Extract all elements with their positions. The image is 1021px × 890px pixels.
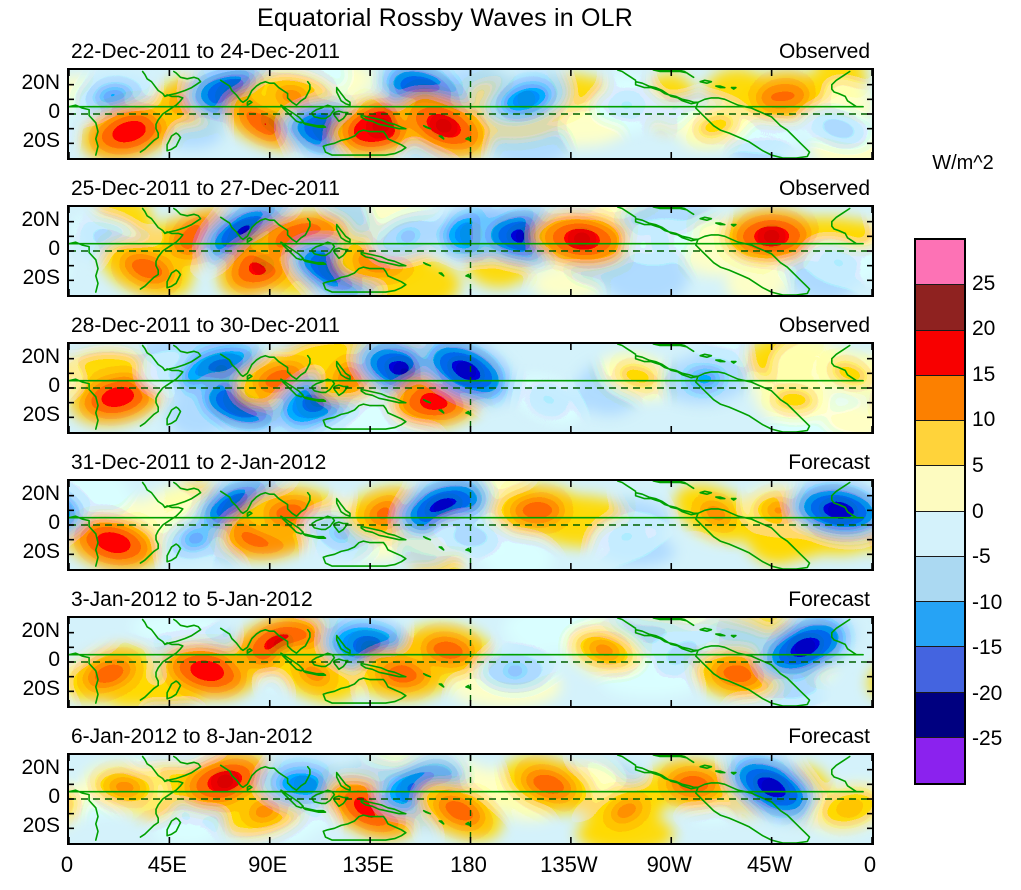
panel-date-range: 28-Dec-2011 to 30-Dec-2011	[71, 314, 340, 338]
figure-root: Equatorial Rossby Waves in OLR 22-Dec-20…	[0, 0, 1021, 890]
colorbar-tick-label: 20	[972, 317, 995, 341]
y-tick-label: 20N	[21, 619, 60, 643]
panel-date-range: 25-Dec-2011 to 27-Dec-2011	[71, 177, 340, 201]
y-tick-label: 20S	[23, 814, 60, 838]
y-tick-label: 20N	[21, 208, 60, 232]
colorbar-tick-labels: 2520151050-5-10-15-20-25	[972, 238, 1021, 785]
x-tick-label: 45E	[148, 852, 187, 878]
panel-header: 6-Jan-2012 to 8-Jan-2012Forecast	[69, 725, 872, 749]
panel-kind-label: Forecast	[788, 451, 870, 475]
panel-header: 3-Jan-2012 to 5-Jan-2012Forecast	[69, 588, 872, 612]
x-tick-label: 90W	[647, 852, 692, 878]
x-axis: 045E90E135E180135W90W45W0	[67, 852, 870, 882]
y-tick-label: 0	[48, 237, 60, 261]
panel-plot-area[interactable]	[67, 205, 874, 297]
colorbar-band	[916, 466, 964, 511]
colorbar-tick-label: -15	[972, 636, 1002, 660]
colorbar-band	[916, 240, 964, 285]
panel-plot-area[interactable]	[67, 68, 874, 160]
panel-date-range: 22-Dec-2011 to 24-Dec-2011	[71, 40, 340, 64]
colorbar-band	[916, 331, 964, 376]
y-tick-label: 20S	[23, 403, 60, 427]
x-tick-label: 0	[61, 852, 73, 878]
colorbar-tick-label: 5	[972, 454, 984, 478]
panel-kind-label: Forecast	[788, 588, 870, 612]
panel-plot-area[interactable]	[67, 616, 874, 708]
colorbar-band	[916, 602, 964, 647]
y-tick-label: 0	[48, 785, 60, 809]
colorbar-band	[916, 512, 964, 557]
colorbar-tick-label: -20	[972, 682, 1002, 706]
x-tick-label: 90E	[248, 852, 287, 878]
y-tick-label: 20N	[21, 756, 60, 780]
colorbar-tick-label: -25	[972, 727, 1002, 751]
panel-kind-label: Forecast	[788, 725, 870, 749]
panel-date-range: 3-Jan-2012 to 5-Jan-2012	[71, 588, 313, 612]
y-tick-label: 0	[48, 648, 60, 672]
colorbar-band	[916, 557, 964, 602]
colorbar-tick-label: -10	[972, 591, 1002, 615]
colorbar-tick-label: 15	[972, 363, 995, 387]
y-axis-panel-5: 20N020S	[0, 616, 64, 704]
y-tick-label: 0	[48, 511, 60, 535]
x-tick-label: 135W	[540, 852, 597, 878]
panel-plot-area[interactable]	[67, 342, 874, 434]
page-title: Equatorial Rossby Waves in OLR	[0, 4, 890, 33]
colorbar-tick-label: -5	[972, 545, 991, 569]
y-tick-label: 20S	[23, 540, 60, 564]
y-tick-label: 0	[48, 374, 60, 398]
panel-header: 22-Dec-2011 to 24-Dec-2011Observed	[69, 40, 872, 64]
panel-header: 25-Dec-2011 to 27-Dec-2011Observed	[69, 177, 872, 201]
x-tick-label: 45W	[747, 852, 792, 878]
y-tick-label: 0	[48, 100, 60, 124]
colorbar-band	[916, 376, 964, 421]
y-tick-label: 20N	[21, 345, 60, 369]
panel-header: 31-Dec-2011 to 2-Jan-2012Forecast	[69, 451, 872, 475]
y-tick-label: 20S	[23, 266, 60, 290]
y-axis-panel-2: 20N020S	[0, 205, 64, 293]
x-tick-label: 0	[864, 852, 876, 878]
colorbar-band	[916, 285, 964, 330]
colorbar-band	[916, 421, 964, 466]
colorbar-units-label: W/m^2	[905, 152, 1021, 175]
colorbar-band	[916, 738, 964, 783]
panel-header: 28-Dec-2011 to 30-Dec-2011Observed	[69, 314, 872, 338]
y-axis-panel-1: 20N020S	[0, 68, 64, 156]
panel-kind-label: Observed	[779, 177, 870, 201]
y-axis-panel-6: 20N020S	[0, 753, 64, 841]
panel-date-range: 31-Dec-2011 to 2-Jan-2012	[71, 451, 326, 475]
y-tick-label: 20N	[21, 71, 60, 95]
y-axis-panel-4: 20N020S	[0, 479, 64, 567]
colorbar-tick-label: 25	[972, 272, 995, 296]
panel-plot-area[interactable]	[67, 753, 874, 845]
x-tick-label: 135E	[342, 852, 393, 878]
y-tick-label: 20S	[23, 677, 60, 701]
y-axis-panel-3: 20N020S	[0, 342, 64, 430]
panel-kind-label: Observed	[779, 314, 870, 338]
panel-plot-area[interactable]	[67, 479, 874, 571]
panel-kind-label: Observed	[779, 40, 870, 64]
colorbar[interactable]	[914, 238, 966, 785]
panel-date-range: 6-Jan-2012 to 8-Jan-2012	[71, 725, 313, 749]
colorbar-tick-label: 10	[972, 408, 995, 432]
colorbar-band	[916, 647, 964, 692]
y-tick-label: 20S	[23, 129, 60, 153]
colorbar-band	[916, 693, 964, 738]
y-tick-label: 20N	[21, 482, 60, 506]
colorbar-tick-label: 0	[972, 500, 984, 524]
x-tick-label: 180	[450, 852, 487, 878]
